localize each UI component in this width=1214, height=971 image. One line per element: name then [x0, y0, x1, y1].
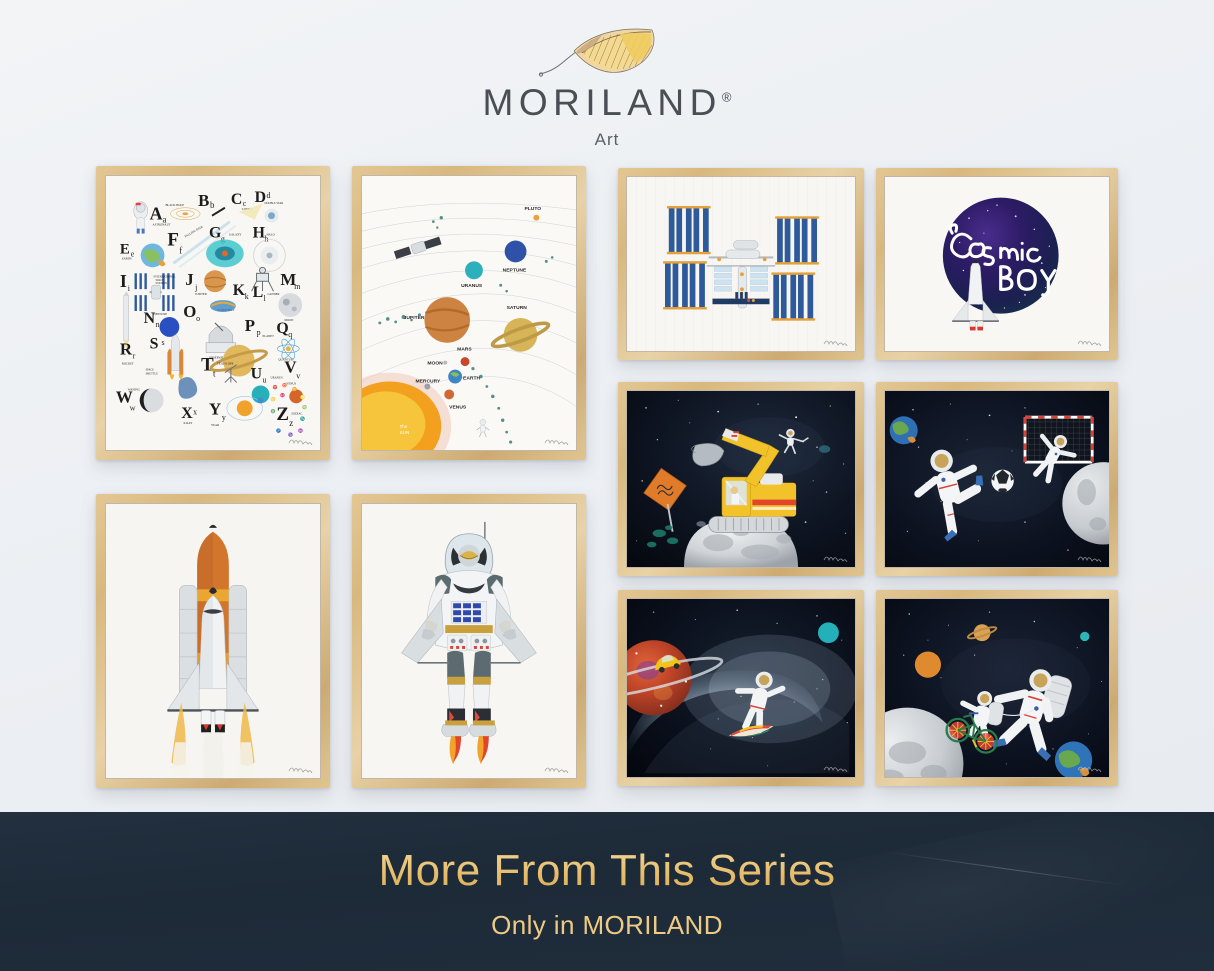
brand-name: MORILAND®: [483, 82, 732, 124]
poster-art-iss: [627, 177, 855, 351]
poster-frame-iss[interactable]: [618, 168, 864, 360]
svg-text:q: q: [288, 330, 292, 339]
svg-text:INTERNATIONAL: INTERNATIONAL: [154, 275, 176, 278]
poster-frame-solar-system[interactable]: The SUN PLUTO NEPTUNE URANUS: [352, 166, 586, 460]
poster-art-space-soccer: [885, 391, 1109, 567]
poster-frame-space-soccer[interactable]: [876, 382, 1118, 576]
banner-texture-line: [885, 851, 1123, 885]
svg-text:S: S: [150, 336, 159, 353]
svg-text:♊: ♊: [292, 386, 297, 391]
svg-text:ROCKET: ROCKET: [122, 362, 134, 366]
svg-text:JUPITER: JUPITER: [404, 315, 425, 321]
poster-frame-space-bike[interactable]: [876, 590, 1118, 786]
svg-text:♋: ♋: [270, 396, 275, 401]
svg-text:v: v: [296, 372, 300, 381]
svg-text:m: m: [294, 282, 301, 291]
svg-text:NEPTUNE: NEPTUNE: [503, 267, 527, 273]
poster-art-cosmic-boy: [885, 177, 1109, 351]
artist-signature: [544, 764, 570, 773]
svg-text:Z: Z: [276, 404, 289, 425]
svg-text:VENUS: VENUS: [286, 381, 296, 385]
svg-text:STATION: STATION: [156, 282, 167, 285]
svg-text:SPACE: SPACE: [146, 369, 155, 372]
svg-text:k: k: [245, 292, 249, 301]
artist-signature: [823, 763, 849, 772]
artist-signature: [1077, 553, 1103, 562]
svg-text:EARTH: EARTH: [122, 256, 133, 260]
svg-text:b: b: [210, 200, 215, 210]
svg-text:G: G: [209, 225, 221, 242]
svg-text:VENUS: VENUS: [449, 404, 467, 410]
svg-text:♐: ♐: [276, 428, 281, 433]
svg-text:x: x: [193, 407, 197, 416]
svg-text:C: C: [231, 191, 242, 208]
svg-text:YEAR: YEAR: [211, 423, 219, 427]
svg-text:MOON: MOON: [427, 361, 443, 367]
svg-text:BLACK HOLE: BLACK HOLE: [165, 203, 184, 207]
svg-text:NEPTUNE: NEPTUNE: [154, 312, 168, 316]
svg-text:URANUS: URANUS: [270, 376, 283, 380]
artist-signature: [823, 337, 849, 346]
svg-text:B: B: [198, 191, 209, 210]
svg-text:f: f: [179, 245, 182, 255]
svg-text:p: p: [257, 328, 261, 337]
svg-text:♎: ♎: [270, 408, 275, 413]
svg-text:Q: Q: [276, 320, 288, 337]
poster-art-moon-excavator: [627, 391, 855, 567]
registered-mark: ®: [722, 90, 732, 105]
svg-text:DOUBLE STAR: DOUBLE STAR: [265, 202, 284, 205]
svg-text:o: o: [196, 314, 200, 323]
gallery-canvas: MORILAND® Art Aa: [0, 0, 1214, 971]
svg-text:I: I: [120, 271, 127, 291]
brand-text: MORILAND: [483, 82, 722, 123]
svg-text:s: s: [161, 338, 164, 347]
poster-frame-cosmic-boy[interactable]: [876, 168, 1118, 360]
svg-text:SUN: SUN: [400, 430, 410, 435]
svg-text:♒: ♒: [298, 428, 303, 433]
svg-text:E: E: [120, 241, 130, 257]
svg-text:HALO: HALO: [267, 233, 276, 237]
svg-text:w: w: [130, 403, 136, 412]
promo-banner: More From This Series Only in MORILAND: [0, 812, 1214, 971]
svg-text:d: d: [267, 191, 271, 200]
svg-text:u: u: [263, 375, 267, 384]
artist-signature: [1077, 763, 1103, 772]
svg-text:A: A: [150, 204, 163, 224]
svg-text:y: y: [222, 413, 226, 422]
svg-text:J: J: [185, 270, 193, 289]
poster-art-cosmic-surfer: [627, 599, 855, 777]
svg-text:SHUTTLE: SHUTTLE: [146, 373, 159, 376]
poster-frame-moon-excavator[interactable]: [618, 382, 864, 576]
svg-text:j: j: [194, 283, 197, 292]
svg-text:♉: ♉: [282, 382, 287, 387]
svg-text:EARTH: EARTH: [463, 376, 480, 382]
svg-text:URANUS: URANUS: [461, 283, 483, 289]
poster-art-space-shuttle-launch: [106, 504, 320, 778]
brand-subtitle: Art: [0, 130, 1214, 150]
poster-frame-space-alphabet[interactable]: Aa ASTRONAUT BLACK HOLE Bb Cc COMET Dd D…: [96, 166, 330, 460]
artist-signature: [288, 764, 314, 773]
artist-signature: [544, 436, 570, 445]
svg-text:F: F: [167, 229, 179, 250]
svg-text:Y: Y: [209, 399, 221, 418]
svg-text:z: z: [289, 418, 293, 428]
poster-art-flying-astronaut: [362, 504, 576, 778]
svg-text:n: n: [156, 320, 160, 329]
feather-icon: [532, 18, 682, 80]
artist-signature: [1077, 337, 1103, 346]
svg-text:LANDER: LANDER: [267, 292, 279, 296]
svg-text:PLUTO: PLUTO: [524, 206, 541, 212]
artist-signature: [823, 553, 849, 562]
poster-frame-space-shuttle-launch[interactable]: [96, 494, 330, 788]
poster-art-solar-system: The SUN PLUTO NEPTUNE URANUS: [362, 176, 576, 450]
artist-signature: [288, 436, 314, 445]
svg-text:♍: ♍: [302, 404, 307, 409]
svg-text:R: R: [120, 340, 133, 359]
brand-logo: MORILAND® Art: [0, 18, 1214, 150]
svg-text:TELESCOPE: TELESCOPE: [217, 362, 234, 366]
svg-text:r: r: [133, 352, 136, 361]
svg-text:♓: ♓: [280, 392, 285, 397]
svg-text:X-RAY: X-RAY: [183, 421, 193, 425]
svg-text:MERCURY: MERCURY: [416, 378, 441, 384]
poster-art-space-bike: [885, 599, 1109, 777]
poster-art-space-alphabet: Aa ASTRONAUT BLACK HOLE Bb Cc COMET Dd D…: [106, 176, 320, 450]
svg-text:The: The: [400, 424, 408, 429]
svg-text:X: X: [181, 405, 193, 422]
banner-subtitle: Only in MORILAND: [0, 910, 1214, 941]
svg-text:V: V: [284, 358, 296, 377]
svg-text:♈: ♈: [272, 384, 277, 389]
svg-text:JUPITER: JUPITER: [195, 292, 207, 296]
banner-title: More From This Series: [378, 846, 835, 896]
svg-text:ZODIAC: ZODIAC: [291, 411, 302, 415]
poster-frame-cosmic-surfer[interactable]: [618, 590, 864, 786]
svg-text:GALAXY: GALAXY: [229, 233, 242, 237]
svg-text:SATURN: SATURN: [507, 305, 528, 311]
svg-text:P: P: [245, 316, 255, 335]
poster-frame-flying-astronaut[interactable]: [352, 494, 586, 788]
svg-text:WANING: WANING: [128, 387, 141, 391]
svg-text:MARS: MARS: [457, 347, 472, 353]
svg-text:♏: ♏: [300, 416, 305, 421]
svg-text:♌: ♌: [300, 394, 305, 399]
svg-text:U: U: [251, 366, 263, 383]
svg-text:O: O: [183, 302, 196, 321]
svg-text:PLANET: PLANET: [263, 334, 275, 338]
svg-text:ASTRONAUT: ASTRONAUT: [153, 223, 171, 227]
